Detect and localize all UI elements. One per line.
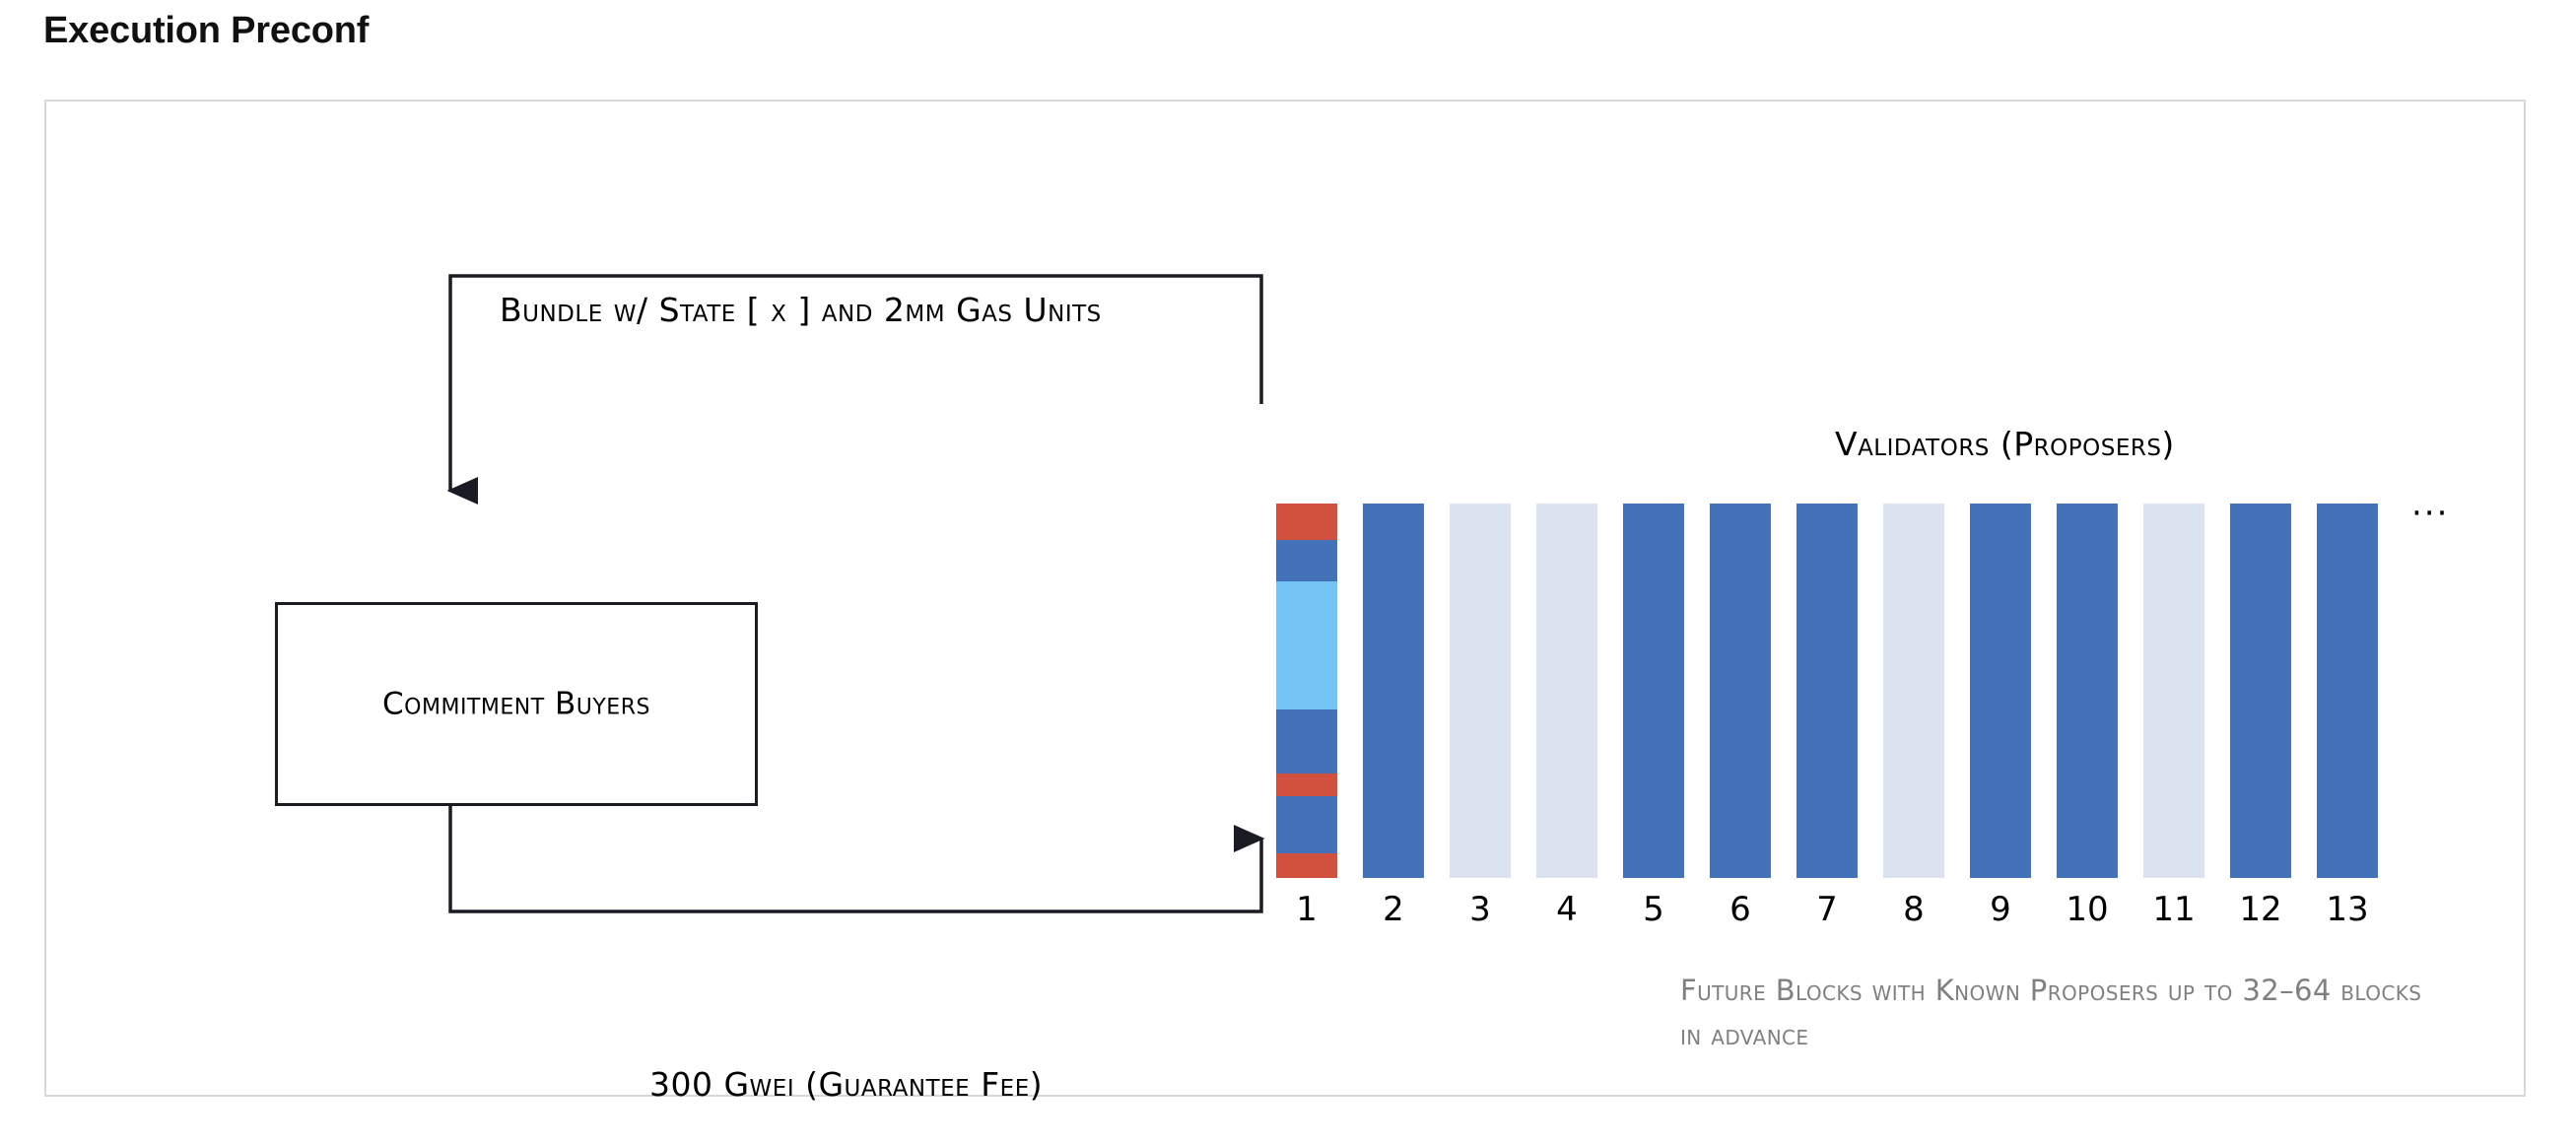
block-1[interactable]	[1276, 504, 1337, 878]
block-1-segment-6	[1276, 796, 1337, 853]
block-11-fill	[2143, 504, 2204, 878]
block-10[interactable]	[2057, 504, 2118, 878]
block-5[interactable]	[1623, 504, 1684, 878]
page-title: Execution Preconf	[43, 10, 369, 52]
block-6[interactable]	[1710, 504, 1771, 878]
block-number-9: 9	[1970, 890, 2031, 929]
block-number-3: 3	[1450, 890, 1511, 929]
blocks-ellipsis: ···	[2411, 494, 2449, 533]
block-3-fill	[1450, 504, 1511, 878]
block-1-segment-2	[1276, 540, 1337, 581]
block-2-fill	[1363, 504, 1424, 878]
block-2[interactable]	[1363, 504, 1424, 878]
block-1-segment-4	[1276, 709, 1337, 774]
block-10-fill	[2057, 504, 2118, 878]
block-7-fill	[1796, 504, 1858, 878]
block-1-segment-7	[1276, 853, 1337, 878]
block-8[interactable]	[1883, 504, 1944, 878]
bundle-label: Bundle w/ State [ x ] and 2mm Gas Units	[500, 291, 1102, 329]
block-13-fill	[2317, 504, 2378, 878]
block-12-fill	[2230, 504, 2291, 878]
block-number-10: 10	[2057, 890, 2118, 929]
block-6-fill	[1710, 504, 1771, 878]
guarantee-fee-label: 300 Gwei (Guarantee Fee)	[649, 1065, 1043, 1104]
block-9-fill	[1970, 504, 2031, 878]
block-number-5: 5	[1623, 890, 1684, 929]
diagram-frame: Bundle w/ State [ x ] and 2mm Gas Units …	[44, 100, 2526, 1097]
block-7[interactable]	[1796, 504, 1858, 878]
commitment-buyers-node[interactable]: Commitment Buyers	[275, 602, 758, 806]
block-8-fill	[1883, 504, 1944, 878]
block-4[interactable]	[1536, 504, 1597, 878]
block-number-11: 11	[2143, 890, 2204, 929]
block-11[interactable]	[2143, 504, 2204, 878]
block-1-segment-3	[1276, 581, 1337, 709]
block-12[interactable]	[2230, 504, 2291, 878]
block-number-8: 8	[1883, 890, 1944, 929]
block-4-fill	[1536, 504, 1597, 878]
block-1-segment-5	[1276, 774, 1337, 796]
block-number-2: 2	[1363, 890, 1424, 929]
block-number-13: 13	[2317, 890, 2378, 929]
block-5-fill	[1623, 504, 1684, 878]
block-3[interactable]	[1450, 504, 1511, 878]
block-1-segment-1	[1276, 504, 1337, 540]
block-number-12: 12	[2230, 890, 2291, 929]
validators-heading: Validators (Proposers)	[1835, 425, 2175, 463]
block-number-1: 1	[1276, 890, 1337, 929]
block-number-6: 6	[1710, 890, 1771, 929]
commitment-buyers-label: Commitment Buyers	[278, 686, 755, 721]
future-blocks-caption: Future Blocks with Known Proposers up to…	[1680, 969, 2429, 1057]
block-number-7: 7	[1796, 890, 1858, 929]
block-number-4: 4	[1536, 890, 1597, 929]
block-13[interactable]	[2317, 504, 2378, 878]
block-9[interactable]	[1970, 504, 2031, 878]
